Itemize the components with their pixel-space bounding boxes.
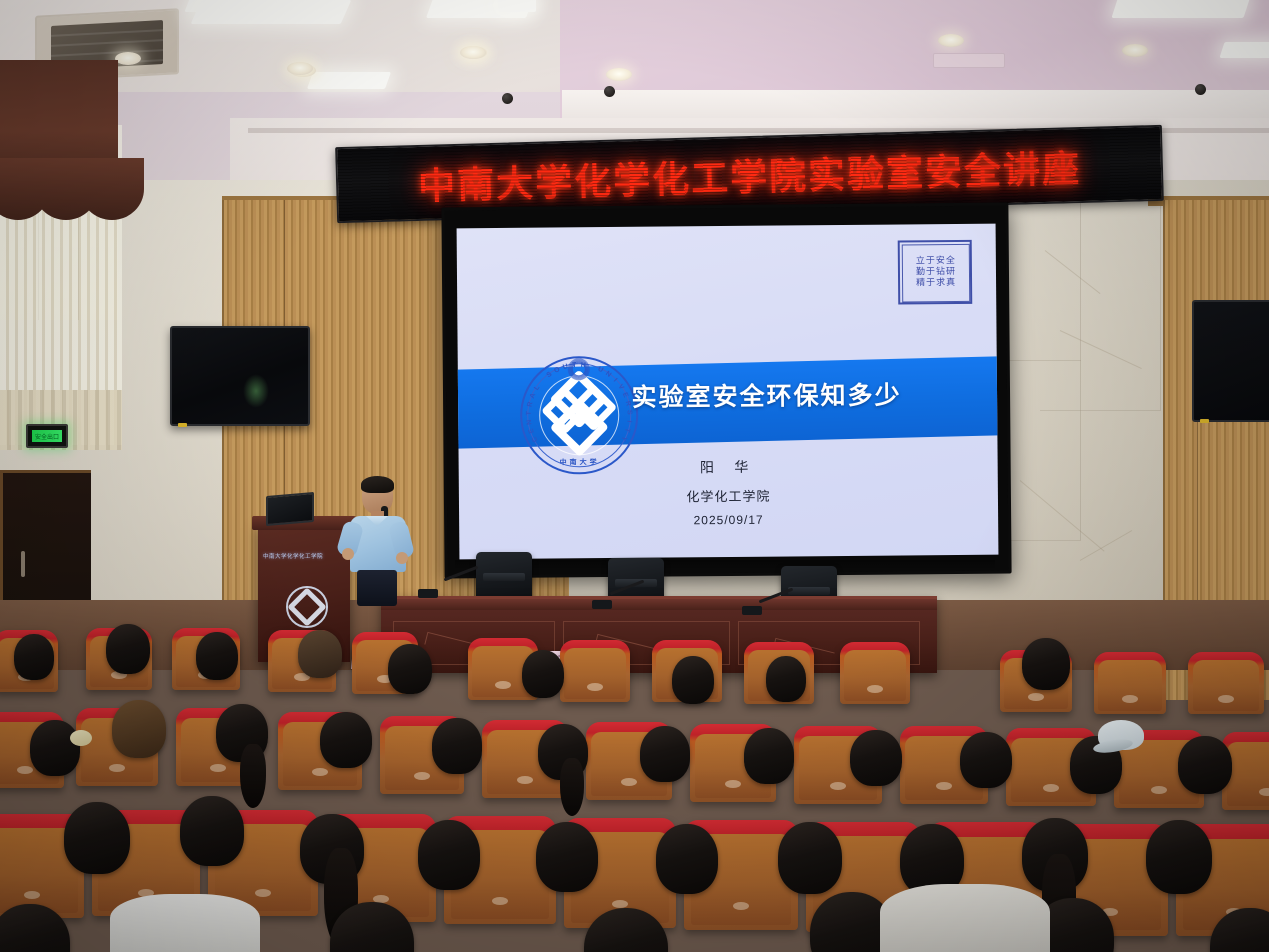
audience-head — [744, 728, 794, 784]
ceiling-light-panel — [307, 72, 391, 89]
hair-scrunchie — [70, 730, 92, 746]
presenter-department: 化学化工学院 — [459, 484, 998, 508]
ceiling-light-panel — [498, 0, 536, 12]
presentation-slide: CENTRAL SOUTH UNIVERSITY 中南大学 实验室安全环保知多少… — [457, 224, 999, 560]
audience-head — [64, 802, 130, 874]
wall-monitor-right — [1192, 300, 1269, 422]
audience-head — [522, 650, 564, 698]
monitor-badge — [178, 423, 187, 427]
audience-area — [0, 608, 1269, 952]
ceiling-light-panel — [191, 0, 352, 24]
csu-arc-char: N — [526, 419, 534, 425]
podium-monitor — [266, 492, 314, 526]
csu-arc-char: Y — [619, 435, 627, 442]
audience-head — [320, 712, 372, 768]
audience-head — [106, 624, 150, 674]
audience-head — [432, 718, 482, 774]
seal-line-2: 勤于钻研 — [916, 268, 956, 278]
screen-reflection — [243, 374, 269, 408]
ceiling-light-panel — [1219, 42, 1269, 58]
recessed-downlight — [606, 68, 632, 81]
audience-ponytail — [240, 744, 266, 808]
presentation-date: 2025/09/17 — [459, 511, 998, 530]
csu-arc-char: C — [531, 435, 540, 443]
csu-logo: CENTRAL SOUTH UNIVERSITY 中南大学 — [520, 356, 639, 475]
audience-head — [640, 726, 690, 782]
audience-head — [30, 720, 80, 776]
baseball-cap — [1098, 720, 1144, 750]
audience-head — [298, 630, 342, 678]
seal-line-3: 精于求真 — [916, 279, 956, 289]
audience-head — [14, 634, 54, 680]
lecture-hall-photo: 安全出口 中南大学化学化工学院实验室安全讲座 CENTRAL SOUTH UNI… — [0, 0, 1269, 952]
recessed-downlight — [938, 34, 964, 47]
audience-head — [196, 632, 238, 680]
seal-line-1: 立于安全 — [916, 257, 956, 267]
curtain-valance — [0, 60, 118, 190]
audience-shoulders — [110, 894, 260, 952]
audience-head — [180, 796, 244, 866]
wall-monitor-left — [170, 326, 310, 426]
projection-screen-frame: CENTRAL SOUTH UNIVERSITY 中南大学 实验室安全环保知多少… — [441, 203, 1011, 579]
recessed-downlight — [460, 46, 486, 59]
csu-arc-char: T — [623, 427, 631, 433]
podium-label: 中南大学化学化工学院 — [263, 552, 345, 562]
audience-ponytail — [560, 758, 584, 816]
csu-arc-char: O — [553, 366, 561, 375]
audience-head — [656, 824, 718, 894]
audience-head — [536, 822, 598, 892]
speaker-hair — [361, 476, 394, 493]
audience-head — [672, 656, 714, 704]
microphone-base — [418, 589, 438, 598]
speaker-presenter — [344, 478, 410, 603]
audience-head — [418, 820, 480, 890]
audience-head — [112, 700, 166, 758]
audience-shoulders — [880, 884, 1050, 952]
emergency-exit-sign: 安全出口 — [26, 424, 68, 448]
audience-head — [1146, 820, 1212, 894]
department-seal: 立于安全 勤于钻研 精于求真 — [898, 240, 973, 305]
auditorium-seat — [1094, 652, 1166, 714]
ceiling-speaker — [502, 93, 513, 104]
ceiling-speaker — [604, 86, 615, 97]
screen-drop-shadow — [455, 560, 995, 570]
speaker-trousers — [357, 570, 397, 606]
recessed-downlight — [1122, 44, 1148, 57]
door-handle[interactable] — [21, 551, 25, 577]
head-table-chair — [476, 552, 532, 600]
slide-metadata: 阳 华 化学化工学院 2025/09/17 — [459, 455, 999, 530]
audience-head — [960, 732, 1012, 788]
audience-head — [778, 822, 842, 894]
ceiling-light-panel — [1111, 0, 1250, 18]
audience-head — [388, 644, 432, 694]
csu-arc-char: I — [625, 420, 632, 423]
recessed-downlight — [287, 62, 313, 75]
audience-head — [1178, 736, 1232, 794]
audience-head — [1022, 638, 1070, 690]
monitor-badge — [1200, 419, 1209, 423]
audience-head — [850, 730, 902, 786]
ceiling-light-panel — [933, 53, 1005, 68]
exit-sign-label: 安全出口 — [32, 430, 62, 442]
auditorium-seat — [560, 640, 630, 702]
presenter-name: 阳 华 — [459, 455, 998, 480]
slide-title: 实验室安全环保知多少 — [458, 374, 997, 415]
ceiling-speaker — [1195, 84, 1206, 95]
auditorium-seat — [840, 642, 910, 704]
csu-arc-char: U — [597, 366, 605, 374]
recessed-downlight — [115, 52, 141, 65]
audience-head — [766, 656, 806, 702]
csu-arc-char: E — [528, 428, 536, 435]
auditorium-seat — [1188, 652, 1264, 714]
